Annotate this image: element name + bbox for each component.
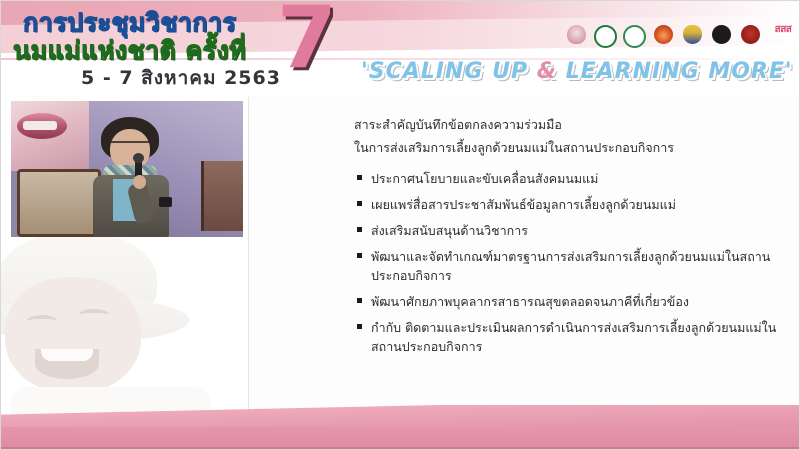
square-bullet-icon xyxy=(357,227,362,232)
royal-emblem-icon xyxy=(567,25,586,44)
microphone-head-icon xyxy=(133,153,144,163)
bullet-list: ประกาศนโยบายและขับเคลื่อนสังคมนมแม่ เผยแ… xyxy=(357,169,777,363)
content-heading: สาระสำคัญบันทึกข้อตกลงความร่วมมือ ในการส… xyxy=(354,113,784,159)
black-seal-icon xyxy=(712,25,731,44)
list-item: กำกับ ติดตามและประเมินผลการดำเนินการส่งเ… xyxy=(357,318,777,356)
heading-line-2: ในการส่งเสริมการเลี้ยงลูกด้วยนมแม่ในสถาน… xyxy=(354,136,784,159)
logo-caption xyxy=(663,45,664,48)
list-item: พัฒนาศักยภาพบุคลากรสาธารณสุขตลอดจนภาคีที… xyxy=(357,292,777,311)
speaker-photo xyxy=(11,101,243,237)
sss-logo-text: สสส xyxy=(775,25,792,35)
list-item-label: กำกับ ติดตามและประเมินผลการดำเนินการส่งเ… xyxy=(371,318,777,356)
garuda-icon xyxy=(683,25,702,44)
list-item: ส่งเสริมสนับสนุนด้านวิชาการ xyxy=(357,221,777,240)
backdrop-teeth-graphic xyxy=(23,121,57,130)
glasses-icon xyxy=(111,141,149,150)
header-banner: การประชุมวิชาการ นมแม่แห่งชาติ ครั้งที่ … xyxy=(1,1,800,96)
speaker-hand xyxy=(133,175,146,189)
logo-green-circle-1 xyxy=(593,25,617,55)
logo-dark-red-seal xyxy=(738,25,762,55)
presentation-slide: การประชุมวิชาการ นมแม่แห่งชาติ ครั้งที่ … xyxy=(0,0,800,450)
logo-black-circle xyxy=(709,25,733,55)
tagline-suffix: LEARNING MORE' xyxy=(557,59,793,84)
child-teeth xyxy=(41,349,93,361)
sponsor-logo-strip: สสส xyxy=(564,25,799,55)
square-bullet-icon xyxy=(357,298,362,303)
logo-orange-emblem xyxy=(651,25,675,55)
list-item-label: ส่งเสริมสนับสนุนด้านวิชาการ xyxy=(371,221,777,240)
green-seal-icon xyxy=(623,25,646,48)
footer-edge-line xyxy=(1,447,800,449)
tagline-prefix: 'SCALING UP xyxy=(361,59,537,84)
logo-caption xyxy=(692,45,693,48)
logo-caption xyxy=(783,35,784,38)
logo-caption xyxy=(576,45,577,48)
red-seal-icon xyxy=(741,25,760,44)
logo-green-circle-2 xyxy=(622,25,646,55)
edition-number: 7 xyxy=(277,1,337,81)
logo-sss: สสส xyxy=(767,25,799,55)
armchair-right xyxy=(201,161,243,231)
list-item-label: พัฒนาศักยภาพบุคลากรสาธารณสุขตลอดจนภาคีที… xyxy=(371,292,777,311)
logo-thai-garuda xyxy=(680,25,704,55)
media-column xyxy=(1,97,248,427)
square-bullet-icon xyxy=(357,175,362,180)
tagline-ampersand: & xyxy=(537,59,557,84)
child-eye-right xyxy=(79,309,109,321)
square-bullet-icon xyxy=(357,324,362,329)
conference-date: 5 - 7 สิงหาคม 2563 xyxy=(81,63,281,93)
logo-caption xyxy=(634,49,635,52)
orange-seal-icon xyxy=(654,25,673,44)
square-bullet-icon xyxy=(357,201,362,206)
child-eye-left xyxy=(27,315,57,327)
conference-tagline: 'SCALING UP & LEARNING MORE' xyxy=(361,59,793,84)
green-seal-icon xyxy=(594,25,617,48)
logo-caption xyxy=(750,45,751,48)
heading-line-1: สาระสำคัญบันทึกข้อตกลงความร่วมมือ xyxy=(354,113,784,136)
child-watermark-image xyxy=(1,237,248,427)
list-item: พัฒนาและจัดทำเกณฑ์มาตรฐานการส่งเสริมการเ… xyxy=(357,247,777,285)
logo-caption xyxy=(721,45,722,48)
footer-pink-band xyxy=(1,405,800,449)
square-bullet-icon xyxy=(357,253,362,258)
list-item: ประกาศนโยบายและขับเคลื่อนสังคมนมแม่ xyxy=(357,169,777,188)
logo-caption xyxy=(605,49,606,52)
list-item-label: พัฒนาและจัดทำเกณฑ์มาตรฐานการส่งเสริมการเ… xyxy=(371,247,777,285)
presenter-clicker-icon xyxy=(159,197,172,207)
footer-flat-shape xyxy=(1,427,800,449)
list-item: เผยแพร่สื่อสารประชาสัมพันธ์ข้อมูลการเลี้… xyxy=(357,195,777,214)
list-item-label: เผยแพร่สื่อสารประชาสัมพันธ์ข้อมูลการเลี้… xyxy=(371,195,777,214)
logo-thai-royal-pink xyxy=(564,25,588,55)
speaker-figure xyxy=(83,117,179,237)
list-item-label: ประกาศนโยบายและขับเคลื่อนสังคมนมแม่ xyxy=(371,169,777,188)
content-panel: สาระสำคัญบันทึกข้อตกลงความร่วมมือ ในการส… xyxy=(249,97,800,427)
